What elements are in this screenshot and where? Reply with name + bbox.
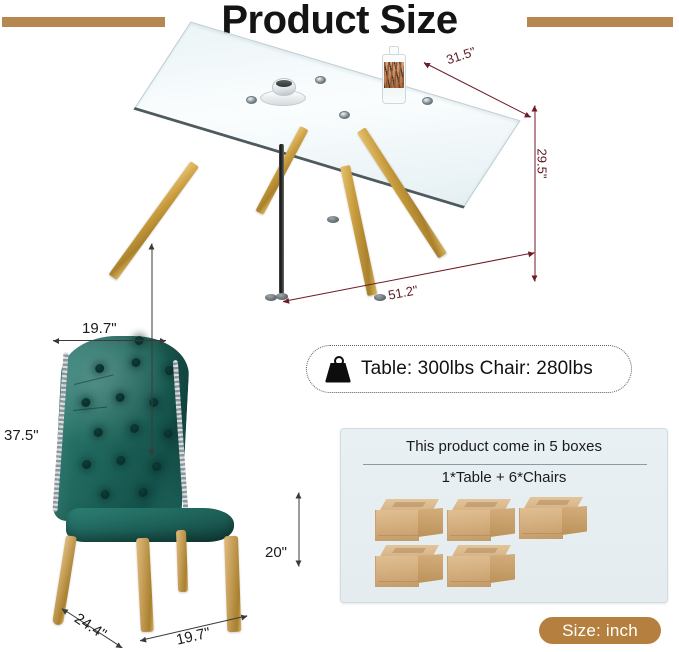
packaging-panel: This product come in 5 boxes 1*Table + 6… xyxy=(340,428,668,603)
box-front xyxy=(375,510,419,541)
size-unit-badge: Size: inch xyxy=(539,617,661,644)
box-tape xyxy=(464,548,498,553)
box-seam xyxy=(378,581,418,582)
shipping-box xyxy=(519,497,587,539)
size-unit-label: Size: inch xyxy=(562,621,638,641)
tabletop-bolt-back xyxy=(422,97,433,105)
box-seam xyxy=(450,581,490,582)
weight-icon-body xyxy=(325,363,351,383)
glass-vase-prop xyxy=(380,46,408,106)
shipping-box xyxy=(447,499,515,541)
tuft-button xyxy=(81,398,90,407)
product-size-infographic: Product Size xyxy=(0,0,679,652)
box-front xyxy=(447,556,491,587)
chair-leg-back-center xyxy=(176,530,188,592)
tuft-button xyxy=(115,393,124,402)
box-seam xyxy=(522,533,562,534)
box-side xyxy=(418,554,443,583)
weight-capacity-label: Table: 300lbs Chair: 280lbs xyxy=(361,358,593,380)
shipping-box xyxy=(375,545,443,587)
packaging-divider xyxy=(363,464,647,465)
chair-seam xyxy=(74,374,114,385)
shipping-box xyxy=(447,545,515,587)
box-side xyxy=(490,554,515,583)
chair-back-width-label: 19.7" xyxy=(82,320,117,337)
table-height-label: 29.5" xyxy=(534,149,549,179)
box-side xyxy=(490,508,515,537)
chair-seat xyxy=(66,508,234,542)
table-foot-right xyxy=(374,294,386,301)
table-leg-front-left xyxy=(109,161,199,280)
box-front xyxy=(447,510,491,541)
tuft-button xyxy=(100,490,109,499)
box-tape xyxy=(392,502,426,507)
box-tape xyxy=(392,548,426,553)
tuft-button xyxy=(152,462,161,471)
weight-capacity-pill: Table: 300lbs Chair: 280lbs xyxy=(306,345,632,393)
weight-icon xyxy=(324,356,352,383)
box-seam xyxy=(378,535,418,536)
tuft-button xyxy=(131,358,140,367)
tuft-button xyxy=(130,424,139,433)
box-tape xyxy=(464,502,498,507)
shipping-box xyxy=(375,499,443,541)
tabletop-bolt-right xyxy=(339,111,350,119)
box-seam xyxy=(450,535,490,536)
box-side xyxy=(418,508,443,537)
page-title: Product Size xyxy=(0,0,679,43)
packaging-subtitle: 1*Table + 6*Chairs xyxy=(341,469,667,486)
chair-tufting xyxy=(53,336,191,521)
chair-leg-front-right xyxy=(136,538,154,633)
coffee-cup-prop xyxy=(260,76,306,106)
tuft-button xyxy=(94,428,103,437)
packaging-title: This product come in 5 boxes xyxy=(341,438,667,455)
table-center-pole xyxy=(279,144,284,294)
tuft-button xyxy=(116,456,125,465)
table-leg-front-right xyxy=(340,165,377,296)
tuft-button xyxy=(82,460,91,469)
table-illustration xyxy=(150,44,550,304)
table-foot-back xyxy=(327,216,339,223)
tuft-button xyxy=(164,429,173,438)
chair-illustration xyxy=(36,330,286,630)
tabletop-bolt-center xyxy=(315,76,326,84)
chair-seam xyxy=(73,406,107,411)
vase-reeds xyxy=(384,62,404,88)
box-front xyxy=(519,508,563,539)
box-side xyxy=(562,506,587,535)
box-front xyxy=(375,556,419,587)
tuft-button xyxy=(138,488,147,497)
tabletop-bolt-left xyxy=(246,96,257,104)
box-tape xyxy=(536,500,570,505)
tuft-button xyxy=(95,364,104,373)
coffee-surface xyxy=(276,80,292,87)
chair-seat-height-label: 20" xyxy=(265,544,287,561)
chair-total-height-label: 37.5" xyxy=(4,427,39,444)
